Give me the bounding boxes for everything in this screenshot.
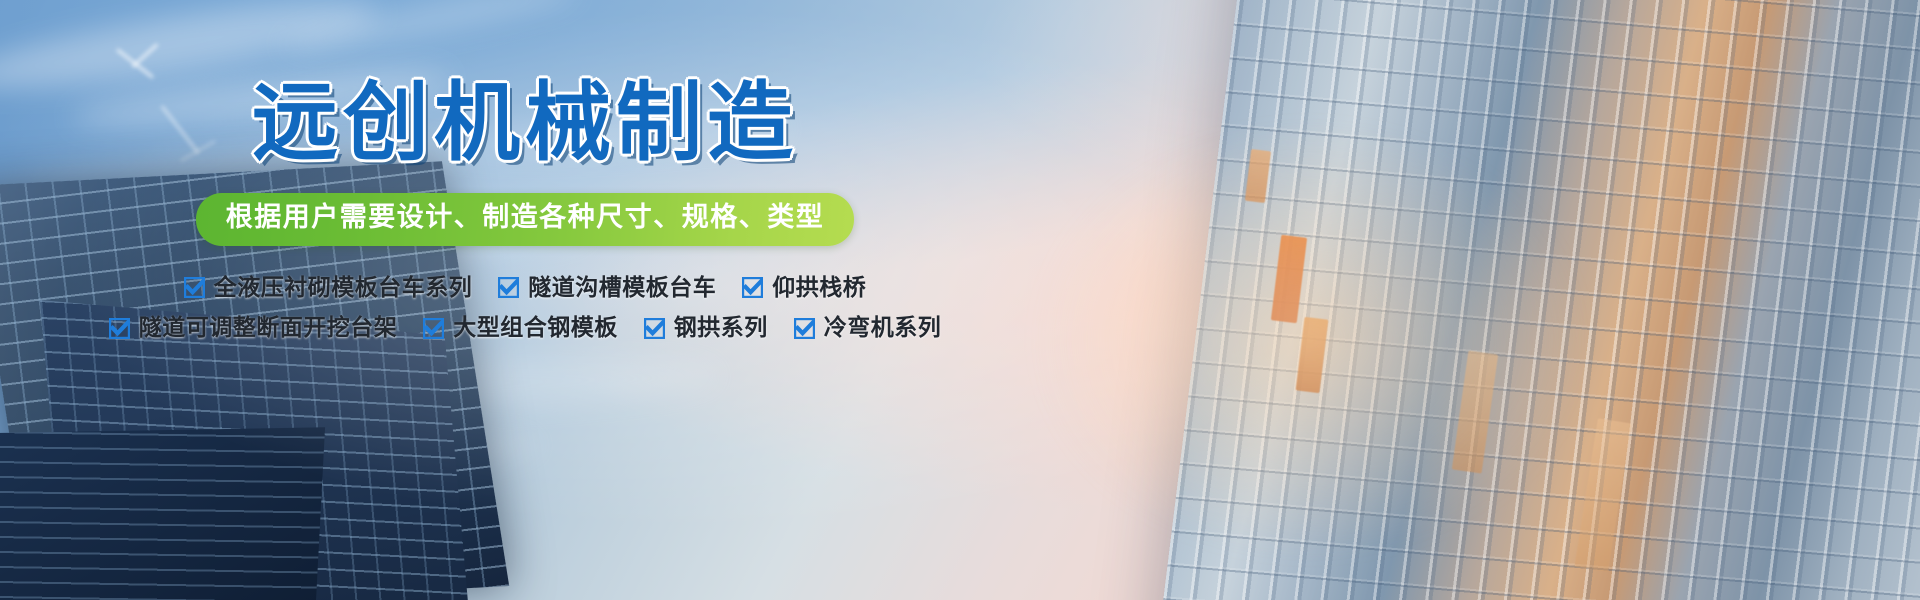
feature-label: 全液压衬砌模板台车系列 bbox=[214, 274, 473, 303]
feature-label: 冷弯机系列 bbox=[824, 314, 942, 343]
feature-label: 隧道可调整断面开挖台架 bbox=[139, 314, 398, 343]
feature-item[interactable]: 仰拱栈桥 bbox=[742, 274, 866, 303]
checkbox-checked-icon bbox=[742, 277, 763, 298]
tagline-container: 根据用户需要设计、制造各种尺寸、规格、类型 bbox=[0, 193, 1050, 245]
checkbox-checked-icon bbox=[423, 318, 444, 339]
checkbox-checked-icon bbox=[794, 318, 815, 339]
feature-item[interactable]: 大型组合钢模板 bbox=[423, 314, 618, 343]
feature-item[interactable]: 钢拱系列 bbox=[644, 314, 768, 343]
feature-label: 隧道沟槽模板台车 bbox=[528, 274, 716, 303]
feature-row: 隧道可调整断面开挖台架 大型组合钢模板 bbox=[0, 314, 1050, 343]
feature-item[interactable]: 隧道可调整断面开挖台架 bbox=[109, 314, 398, 343]
glass-tower-right bbox=[1155, 0, 1920, 600]
office-building-left-foreground bbox=[0, 427, 325, 600]
checkbox-checked-icon bbox=[109, 318, 130, 339]
checkbox-checked-icon bbox=[184, 277, 205, 298]
tagline-badge: 根据用户需要设计、制造各种尺寸、规格、类型 bbox=[196, 193, 855, 245]
feature-item[interactable]: 冷弯机系列 bbox=[794, 314, 942, 343]
hero-banner: 远创机械制造 根据用户需要设计、制造各种尺寸、规格、类型 全液压衬砌模板台车系列 bbox=[0, 0, 1920, 600]
feature-item[interactable]: 全液压衬砌模板台车系列 bbox=[184, 274, 473, 303]
feature-label: 大型组合钢模板 bbox=[453, 314, 618, 343]
feature-label: 仰拱栈桥 bbox=[772, 274, 866, 303]
banner-title: 远创机械制造 bbox=[0, 78, 1050, 169]
feature-label: 钢拱系列 bbox=[674, 314, 768, 343]
feature-row: 全液压衬砌模板台车系列 隧道沟槽模板台车 bbox=[0, 274, 1050, 303]
checkbox-checked-icon bbox=[498, 277, 519, 298]
feature-item[interactable]: 隧道沟槽模板台车 bbox=[498, 274, 716, 303]
checkbox-checked-icon bbox=[644, 318, 665, 339]
feature-list: 全液压衬砌模板台车系列 隧道沟槽模板台车 bbox=[0, 274, 1050, 344]
